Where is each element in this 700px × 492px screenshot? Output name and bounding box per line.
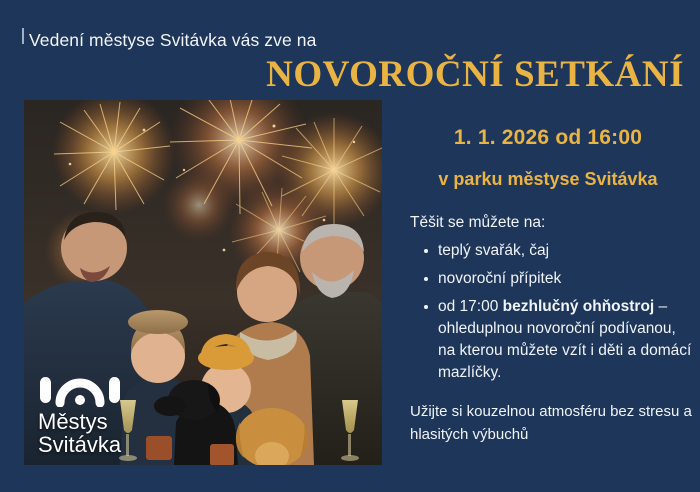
invite-line: Vedení městyse Svitávka vás zve na	[29, 30, 316, 51]
list-item-prefix: od 17:00	[438, 298, 503, 315]
details-column: 1. 1. 2026 od 16:00 v parku městyse Svit…	[402, 112, 694, 447]
list-item: teplý svařák, čaj	[424, 240, 694, 262]
event-photo: Městys Svitávka	[24, 100, 382, 465]
event-date: 1. 1. 2026 od 16:00	[402, 126, 694, 150]
list-item: novoroční přípitek	[424, 268, 694, 290]
list-item-text: teplý svařák, čaj	[438, 242, 549, 259]
page-title: NOVOROČNÍ SETKÁNÍ	[266, 56, 684, 93]
logo-line-2: Svitávka	[38, 433, 158, 457]
program-list: teplý svařák, čaj novoroční přípitek od …	[402, 240, 694, 384]
mestys-svitavka-logo-mark	[38, 371, 122, 407]
event-place: v parku městyse Svitávka	[402, 169, 694, 190]
logo-line-1: Městys	[38, 410, 158, 434]
list-item-highlight: bezhlučný ohňostroj	[503, 298, 655, 315]
list-item: od 17:00 bezhlučný ohňostroj – ohledupln…	[424, 296, 694, 384]
closing-note: Užijte si kouzelnou atmosféru bez stresu…	[410, 400, 694, 447]
logo: Městys Svitávka	[38, 371, 158, 458]
program-lead: Těšit se můžete na:	[410, 214, 694, 232]
text-caret-marker	[22, 28, 24, 44]
logo-text: Městys Svitávka	[38, 410, 158, 458]
list-item-text: novoroční přípitek	[438, 270, 561, 287]
poster-root: Vedení městyse Svitávka vás zve na NOVOR…	[0, 0, 700, 492]
